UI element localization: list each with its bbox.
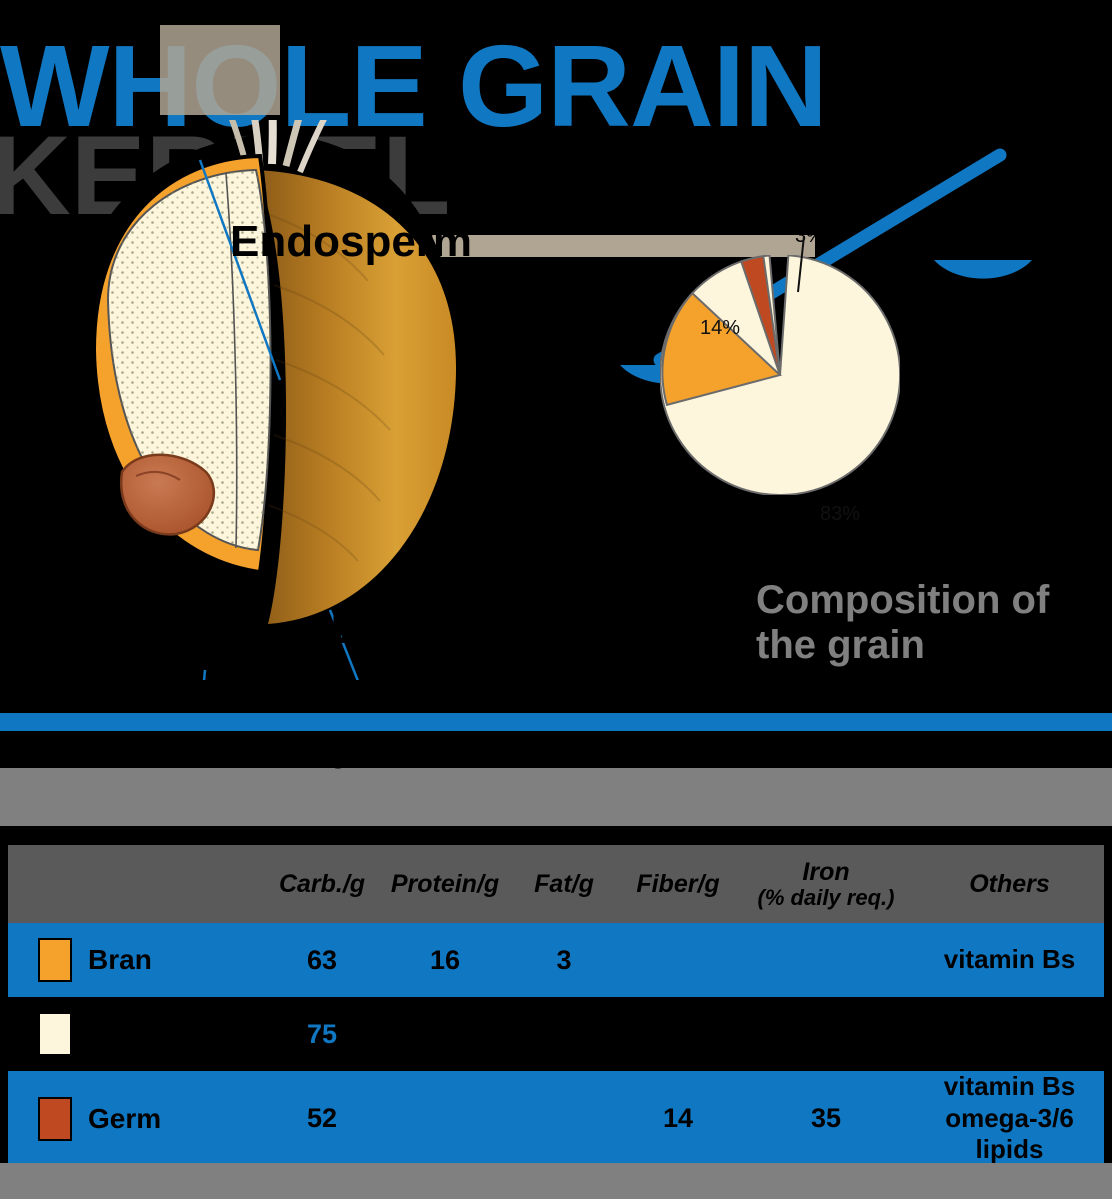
table-row[interactable]: Bran 63 16 3 vitamin Bs xyxy=(8,923,1104,997)
pie-label-bran: 14% xyxy=(700,317,740,340)
swatch-bran-icon xyxy=(38,938,72,982)
swatch-endosperm-icon xyxy=(38,1012,72,1056)
table-row[interactable]: Germ 52 14 35 vitamin Bs omega-3/6 lipid… xyxy=(8,1071,1104,1166)
pie-caption: Composition of the grain xyxy=(756,578,1112,668)
col-header-fat: Fat/g xyxy=(509,845,619,923)
pie-label-endosperm: 83% xyxy=(820,503,860,526)
callout-line-endosperm xyxy=(200,160,280,380)
table-row[interactable]: Endosperm 75 10 1 xyxy=(8,997,1104,1071)
callout-label-bran: Bran xyxy=(330,600,448,652)
cell-germ-carb: 52 xyxy=(263,1071,381,1166)
col-header-name xyxy=(8,845,263,923)
col-header-carb: Carb./g xyxy=(263,845,381,923)
cell-bran-fiber xyxy=(619,923,737,997)
row-label-germ: Germ xyxy=(88,1103,161,1135)
cell-endosperm-fiber xyxy=(619,997,737,1071)
row-label-bran: Bran xyxy=(88,944,152,976)
cell-bran-iron xyxy=(737,923,915,997)
cell-bran-fat: 3 xyxy=(509,923,619,997)
row-name-endosperm: Endosperm xyxy=(8,997,263,1071)
col-header-protein: Protein/g xyxy=(381,845,509,923)
caption-band-grey xyxy=(0,768,1112,826)
cell-germ-fat xyxy=(509,1071,619,1166)
callout-line-germ xyxy=(190,670,205,680)
cell-germ-others: vitamin Bs omega-3/6 lipids xyxy=(915,1071,1104,1166)
cell-germ-fiber: 14 xyxy=(619,1071,737,1166)
footer-band-grey xyxy=(0,1163,1112,1199)
row-name-bran: Bran xyxy=(8,923,263,997)
cell-endosperm-protein: 10 xyxy=(381,997,509,1071)
cell-germ-iron: 35 xyxy=(737,1071,915,1166)
swatch-germ-icon xyxy=(38,1097,72,1141)
cell-endosperm-fat: 1 xyxy=(509,997,619,1071)
col-header-iron: Iron (% daily req.) xyxy=(737,845,915,923)
col-header-iron-sub: (% daily req.) xyxy=(737,886,915,911)
row-name-germ: Germ xyxy=(8,1071,263,1166)
cell-endosperm-carb: 75 xyxy=(263,997,381,1071)
infographic-canvas: Anatomy of a grain WHOLE GRAIN KERNEL xyxy=(0,0,1112,1199)
cell-germ-others-line1: vitamin Bs xyxy=(915,1071,1104,1103)
nutrition-table: Carb./g Protein/g Fat/g Fiber/g Iron (% … xyxy=(8,845,1104,1166)
pie-germ-leader-line xyxy=(780,230,850,310)
cell-germ-others-line2: omega-3/6 lipids xyxy=(915,1103,1104,1166)
callout-label-germ: Germ xyxy=(18,560,154,612)
cell-endosperm-others xyxy=(915,997,1104,1071)
cell-bran-protein: 16 xyxy=(381,923,509,997)
cell-germ-protein xyxy=(381,1071,509,1166)
col-header-fiber: Fiber/g xyxy=(619,845,737,923)
cell-bran-carb: 63 xyxy=(263,923,381,997)
col-header-iron-main: Iron xyxy=(737,858,915,886)
table-header-row: Carb./g Protein/g Fat/g Fiber/g Iron (% … xyxy=(8,845,1104,923)
row-label-endosperm: Endosperm xyxy=(88,1018,242,1050)
cell-endosperm-iron xyxy=(737,997,915,1071)
col-header-others: Others xyxy=(915,845,1104,923)
callout-label-endosperm: Endosperm xyxy=(230,220,472,264)
bottom-caption: Grain anatomy and nutrition xyxy=(75,725,611,770)
cell-bran-others: vitamin Bs xyxy=(915,923,1104,997)
